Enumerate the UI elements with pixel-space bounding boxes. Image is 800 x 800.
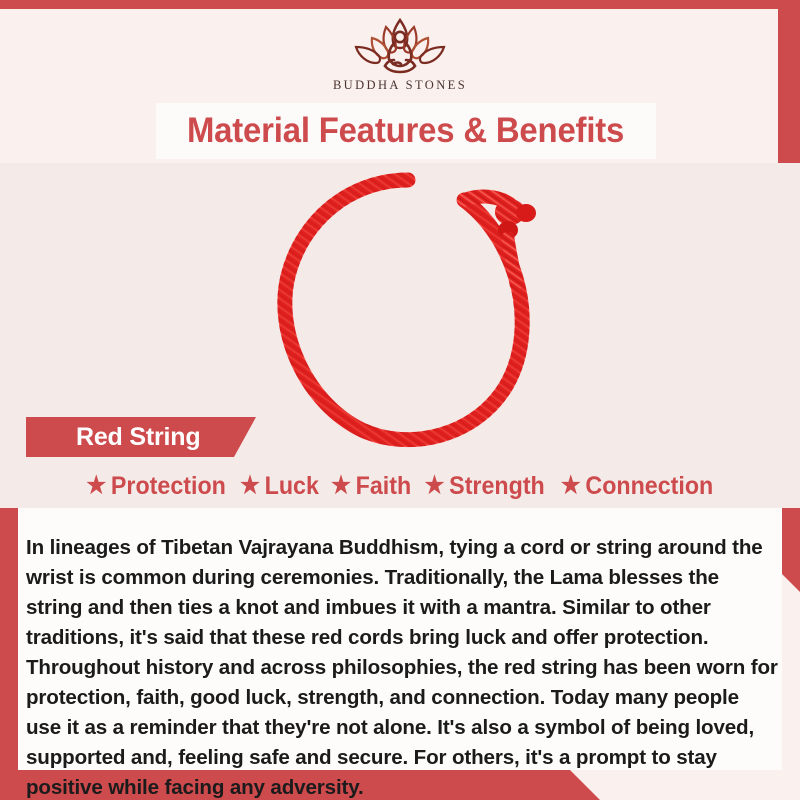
benefit-faith: ★ Faith [331,472,411,501]
benefit-connection: ★ Connection [561,472,714,501]
benefit-label: Protection [111,472,226,501]
title-band: Material Features & Benefits [156,103,656,159]
benefit-protection: ★ Protection [86,472,226,501]
star-icon: ★ [561,474,581,498]
benefit-label: Luck [264,472,318,501]
benefit-label: Strength [449,472,545,501]
star-icon: ★ [86,474,106,498]
benefit-label: Connection [586,472,714,501]
page-title: Material Features & Benefits [187,111,624,151]
benefits-list: ★ Protection ★ Luck ★ Faith ★ Strength ★… [18,466,782,506]
star-icon: ★ [331,474,351,498]
benefit-strength: ★ Strength [424,472,544,501]
product-label-ribbon: Red String [26,417,256,457]
poster-root: BUDDHA STONES Material Features & Benefi… [0,0,800,800]
brand-logo: BUDDHA STONES [0,14,800,100]
red-string-bracelet-image [258,168,558,450]
top-red-bar [0,0,800,9]
star-icon: ★ [424,474,444,498]
star-icon: ★ [240,474,260,498]
brand-name: BUDDHA STONES [333,78,467,93]
benefit-label: Faith [355,472,411,501]
lotus-meditation-figure-icon [325,14,475,76]
product-label-text: Red String [76,423,200,452]
benefit-luck: ★ Luck [240,472,319,501]
description-text: In lineages of Tibetan Vajrayana Buddhis… [26,533,778,800]
